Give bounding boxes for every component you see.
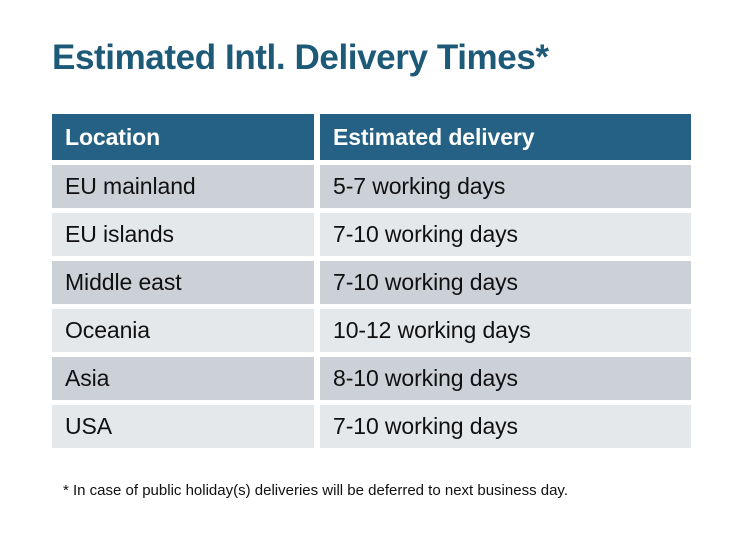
table-cell-location-value: Middle east bbox=[65, 269, 182, 296]
table-header-cell-location: Location bbox=[52, 114, 314, 160]
table-cell-location: Oceania bbox=[52, 309, 314, 352]
footnote-text: * In case of public holiday(s) deliverie… bbox=[63, 481, 568, 501]
table-header-label-location: Location bbox=[65, 124, 160, 151]
delivery-times-page: Estimated Intl. Delivery Times* Location… bbox=[0, 0, 745, 536]
table-cell-delivery: 10-12 working days bbox=[320, 309, 691, 352]
table-cell-location: Middle east bbox=[52, 261, 314, 304]
table-cell-delivery-value: 7-10 working days bbox=[333, 221, 518, 248]
table-cell-delivery-value: 7-10 working days bbox=[333, 269, 518, 296]
table-cell-delivery: 7-10 working days bbox=[320, 261, 691, 304]
table-cell-delivery: 5-7 working days bbox=[320, 165, 691, 208]
table-cell-location: USA bbox=[52, 405, 314, 448]
table-row: Asia 8-10 working days bbox=[52, 357, 691, 400]
table-row: EU islands 7-10 working days bbox=[52, 213, 691, 256]
table-cell-delivery-value: 5-7 working days bbox=[333, 173, 505, 200]
table-cell-location-value: Asia bbox=[65, 365, 109, 392]
table-cell-location-value: EU islands bbox=[65, 221, 174, 248]
table-cell-delivery-value: 7-10 working days bbox=[333, 413, 518, 440]
table-cell-delivery-value: 10-12 working days bbox=[333, 317, 531, 344]
table-row: EU mainland 5-7 working days bbox=[52, 165, 691, 208]
table-cell-location: EU mainland bbox=[52, 165, 314, 208]
table-cell-delivery: 7-10 working days bbox=[320, 213, 691, 256]
table-cell-location: Asia bbox=[52, 357, 314, 400]
table-row: USA 7-10 working days bbox=[52, 405, 691, 448]
table-cell-location: EU islands bbox=[52, 213, 314, 256]
estimated-delivery-times-table: Location Estimated delivery EU mainland … bbox=[52, 114, 691, 448]
table-cell-location-value: Oceania bbox=[65, 317, 150, 344]
table-cell-location-value: EU mainland bbox=[65, 173, 196, 200]
table-cell-delivery: 7-10 working days bbox=[320, 405, 691, 448]
table-cell-delivery: 8-10 working days bbox=[320, 357, 691, 400]
page-title: Estimated Intl. Delivery Times* bbox=[52, 36, 549, 80]
table-cell-delivery-value: 8-10 working days bbox=[333, 365, 518, 392]
table-row: Oceania 10-12 working days bbox=[52, 309, 691, 352]
table-header-row: Location Estimated delivery bbox=[52, 114, 691, 160]
table-header-label-delivery: Estimated delivery bbox=[333, 124, 534, 151]
table-row: Middle east 7-10 working days bbox=[52, 261, 691, 304]
table-header-cell-delivery: Estimated delivery bbox=[320, 114, 691, 160]
table-cell-location-value: USA bbox=[65, 413, 112, 440]
